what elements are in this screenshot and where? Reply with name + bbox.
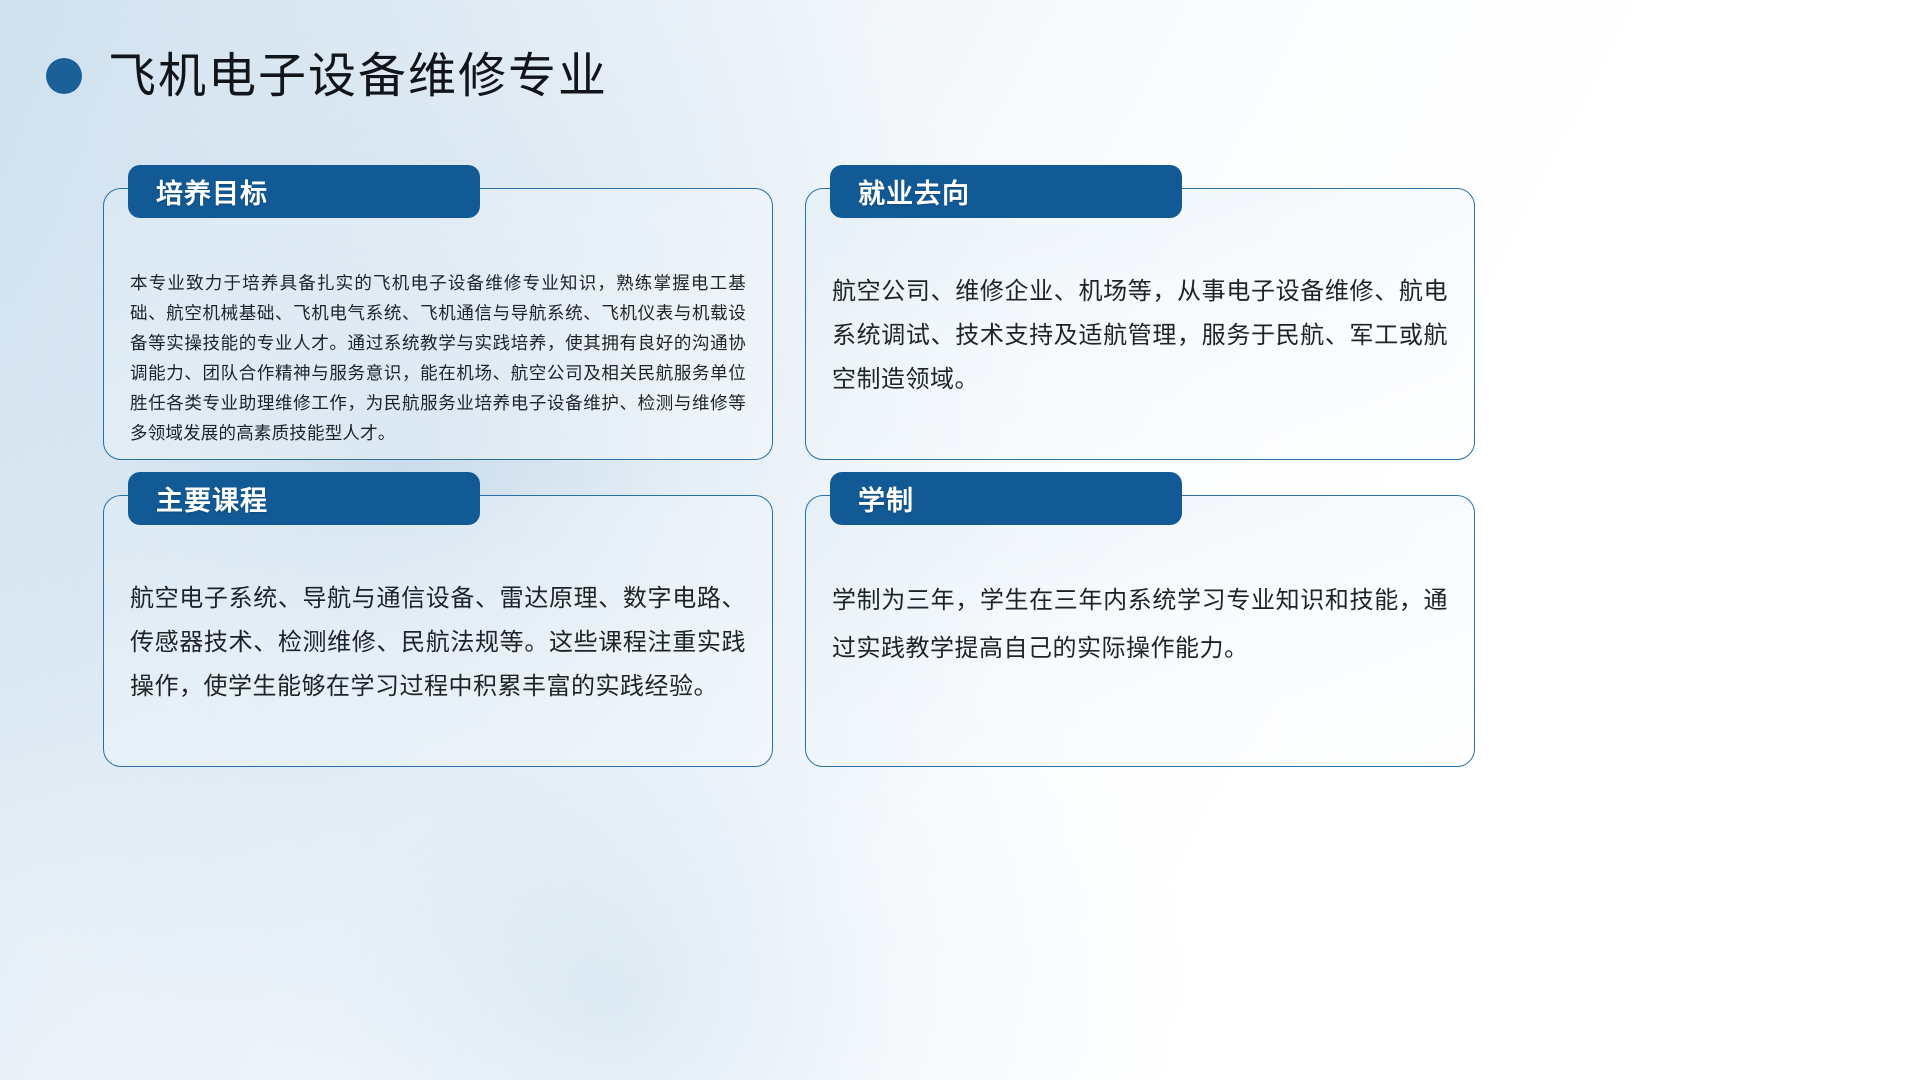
card-header-badge: 培养目标 bbox=[128, 165, 480, 218]
card-training-objective[interactable]: 培养目标 本专业致力于培养具备扎实的飞机电子设备维修专业知识，熟练掌握电工基础、… bbox=[103, 188, 773, 460]
card-heading-text: 主要课程 bbox=[156, 479, 268, 518]
card-row-top: 培养目标 本专业致力于培养具备扎实的飞机电子设备维修专业知识，熟练掌握电工基础、… bbox=[103, 188, 1475, 460]
card-row-bottom: 主要课程 航空电子系统、导航与通信设备、雷达原理、数字电路、传感器技术、检测维修… bbox=[103, 495, 1475, 767]
card-header-badge: 主要课程 bbox=[128, 472, 480, 525]
card-grid: 培养目标 本专业致力于培养具备扎实的飞机电子设备维修专业知识，熟练掌握电工基础、… bbox=[103, 188, 1475, 767]
card-body-text: 航空公司、维修企业、机场等，从事电子设备维修、航电系统调试、技术支持及适航管理，… bbox=[832, 269, 1448, 401]
card-body-text: 本专业致力于培养具备扎实的飞机电子设备维修专业知识，熟练掌握电工基础、航空机械基… bbox=[130, 269, 746, 449]
slide-canvas: 飞机电子设备维修专业 培养目标 本专业致力于培养具备扎实的飞机电子设备维修专业知… bbox=[0, 0, 1920, 1080]
circle-bullet-icon bbox=[46, 58, 82, 94]
card-heading-text: 学制 bbox=[858, 479, 914, 518]
card-header-badge: 就业去向 bbox=[830, 165, 1182, 218]
card-heading-text: 培养目标 bbox=[156, 172, 268, 211]
card-employment-direction[interactable]: 就业去向 航空公司、维修企业、机场等，从事电子设备维修、航电系统调试、技术支持及… bbox=[805, 188, 1475, 460]
card-body-text: 学制为三年，学生在三年内系统学习专业知识和技能，通过实践教学提高自己的实际操作能… bbox=[832, 576, 1448, 672]
page-title-text: 飞机电子设备维修专业 bbox=[108, 52, 608, 100]
card-header-badge: 学制 bbox=[830, 472, 1182, 525]
card-main-courses[interactable]: 主要课程 航空电子系统、导航与通信设备、雷达原理、数字电路、传感器技术、检测维修… bbox=[103, 495, 773, 767]
card-heading-text: 就业去向 bbox=[858, 172, 970, 211]
card-study-duration[interactable]: 学制 学制为三年，学生在三年内系统学习专业知识和技能，通过实践教学提高自己的实际… bbox=[805, 495, 1475, 767]
page-title: 飞机电子设备维修专业 bbox=[46, 52, 608, 100]
card-body-text: 航空电子系统、导航与通信设备、雷达原理、数字电路、传感器技术、检测维修、民航法规… bbox=[130, 576, 746, 708]
